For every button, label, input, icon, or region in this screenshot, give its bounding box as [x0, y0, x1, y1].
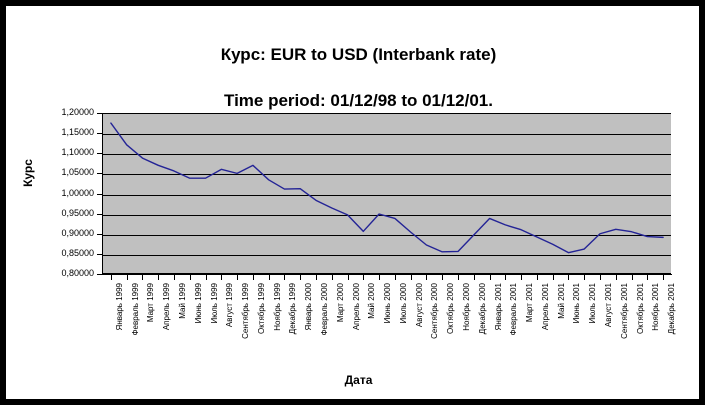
x-axis-tick-label: Февраль 2000	[320, 283, 329, 336]
x-axis-tick	[474, 275, 475, 280]
y-axis-tick	[97, 194, 103, 195]
x-axis-tick	[442, 275, 443, 280]
y-axis-tick-label: 1,15000	[38, 127, 94, 137]
x-axis-tick	[300, 275, 301, 280]
x-axis-tick	[632, 275, 633, 280]
x-axis-tick	[458, 275, 459, 280]
x-axis-tick-label: Март 1999	[146, 283, 155, 322]
x-axis-tick	[142, 275, 143, 280]
x-axis-tick-label: Октябрь 2000	[446, 283, 455, 334]
x-axis-tick-label: Сентябрь 2000	[430, 283, 439, 339]
x-axis-tick-label: Январь 2000	[304, 283, 313, 330]
y-axis-tick	[97, 153, 103, 154]
x-axis-tick	[158, 275, 159, 280]
y-axis-tick	[97, 173, 103, 174]
x-axis-tick-label: Октябрь 1999	[257, 283, 266, 334]
x-axis-tick	[616, 275, 617, 280]
y-axis-tick-label: 1,20000	[38, 107, 94, 117]
x-axis-tick	[663, 275, 664, 280]
x-axis-tick	[221, 275, 222, 280]
x-axis-tick-label: Август 2000	[415, 283, 424, 327]
y-axis-tick-label: 0,90000	[38, 228, 94, 238]
x-axis-tick-label: Август 1999	[225, 283, 234, 327]
x-axis-tick-label: Декабрь 2000	[478, 283, 487, 334]
x-axis-tick	[174, 275, 175, 280]
y-axis-tick-label: 0,95000	[38, 208, 94, 218]
x-axis-tick-label: Май 2000	[367, 283, 376, 319]
x-axis-tick-label: Январь 2001	[494, 283, 503, 330]
series-eur-usd	[103, 113, 671, 274]
x-axis-tick	[490, 275, 491, 280]
x-axis-tick	[521, 275, 522, 280]
x-axis-tick	[600, 275, 601, 280]
x-axis-tick-label: Ноябрь 2001	[651, 283, 660, 331]
x-axis-tick-label: Июль 1999	[210, 283, 219, 323]
y-axis-tick-label: 1,10000	[38, 147, 94, 157]
x-axis-tick	[584, 275, 585, 280]
chart-title-line-1: Курс: EUR to USD (Interbank rate)	[6, 43, 705, 66]
x-axis-tick	[332, 275, 333, 280]
x-axis-tick-label: Ноябрь 1999	[273, 283, 282, 331]
y-axis-tick-label: 1,05000	[38, 167, 94, 177]
x-axis-tick	[553, 275, 554, 280]
x-axis-tick	[237, 275, 238, 280]
x-axis-tick	[411, 275, 412, 280]
x-axis-tick-label: Июнь 1999	[194, 283, 203, 323]
x-axis-tick-label: Июнь 2001	[572, 283, 581, 323]
y-axis-tick-label: 0,85000	[38, 248, 94, 258]
y-axis-tick	[97, 113, 103, 114]
x-axis-line	[102, 274, 672, 275]
x-axis-tick	[379, 275, 380, 280]
x-axis-tick-label: Май 1999	[178, 283, 187, 319]
x-axis-tick	[363, 275, 364, 280]
x-axis-tick-label: Апрель 2000	[352, 283, 361, 330]
x-axis-tick-label: Сентябрь 2001	[620, 283, 629, 339]
x-axis-tick-label: Декабрь 1999	[288, 283, 297, 334]
y-axis-tick	[97, 214, 103, 215]
x-axis-tick-label: Март 2001	[525, 283, 534, 322]
x-axis-tick	[111, 275, 112, 280]
x-axis-tick-label: Ноябрь 2000	[462, 283, 471, 331]
y-axis-tick	[97, 133, 103, 134]
x-axis-tick	[206, 275, 207, 280]
x-axis-tick	[316, 275, 317, 280]
x-axis-title: Дата	[6, 373, 705, 387]
x-axis-tick	[568, 275, 569, 280]
x-axis-tick-label: Март 2000	[336, 283, 345, 322]
x-axis-tick-label: Июль 2001	[588, 283, 597, 323]
chart-window: Курс: EUR to USD (Interbank rate) Time p…	[0, 0, 705, 405]
x-axis-tick-label: Апрель 2001	[541, 283, 550, 330]
y-axis-title: Курс	[21, 143, 35, 203]
x-axis-tick	[269, 275, 270, 280]
x-axis-tick-label: Январь 1999	[115, 283, 124, 330]
x-axis-tick-label: Октябрь 2001	[636, 283, 645, 334]
y-axis-tick-label: 1,00000	[38, 188, 94, 198]
y-axis-tick	[97, 274, 103, 275]
x-axis-tick	[348, 275, 349, 280]
x-axis-tick	[253, 275, 254, 280]
x-axis-tick-label: Июнь 2000	[383, 283, 392, 323]
x-axis-tick	[537, 275, 538, 280]
x-axis-tick	[284, 275, 285, 280]
x-axis-tick-label: Декабрь 2001	[667, 283, 676, 334]
x-axis-tick	[647, 275, 648, 280]
x-axis-tick	[505, 275, 506, 280]
x-axis-tick-label: Август 2001	[604, 283, 613, 327]
chart-title-line-2: Time period: 01/12/98 to 01/12/01.	[6, 89, 705, 112]
x-axis-tick	[127, 275, 128, 280]
y-axis-labels: 1,200001,150001,100001,050001,000000,950…	[34, 6, 94, 411]
y-axis-tick	[97, 234, 103, 235]
y-axis-tick-label: 0,80000	[38, 268, 94, 278]
x-axis-tick-label: Май 2001	[557, 283, 566, 319]
x-axis-tick-label: Февраль 2001	[509, 283, 518, 336]
x-axis-tick-label: Февраль 1999	[131, 283, 140, 336]
x-axis-tick-label: Июль 2000	[399, 283, 408, 323]
x-axis-tick	[190, 275, 191, 280]
x-axis-tick	[395, 275, 396, 280]
x-axis-tick	[426, 275, 427, 280]
x-axis-tick-label: Сентябрь 1999	[241, 283, 250, 339]
y-axis-tick	[97, 254, 103, 255]
x-axis-tick-label: Апрель 1999	[162, 283, 171, 330]
